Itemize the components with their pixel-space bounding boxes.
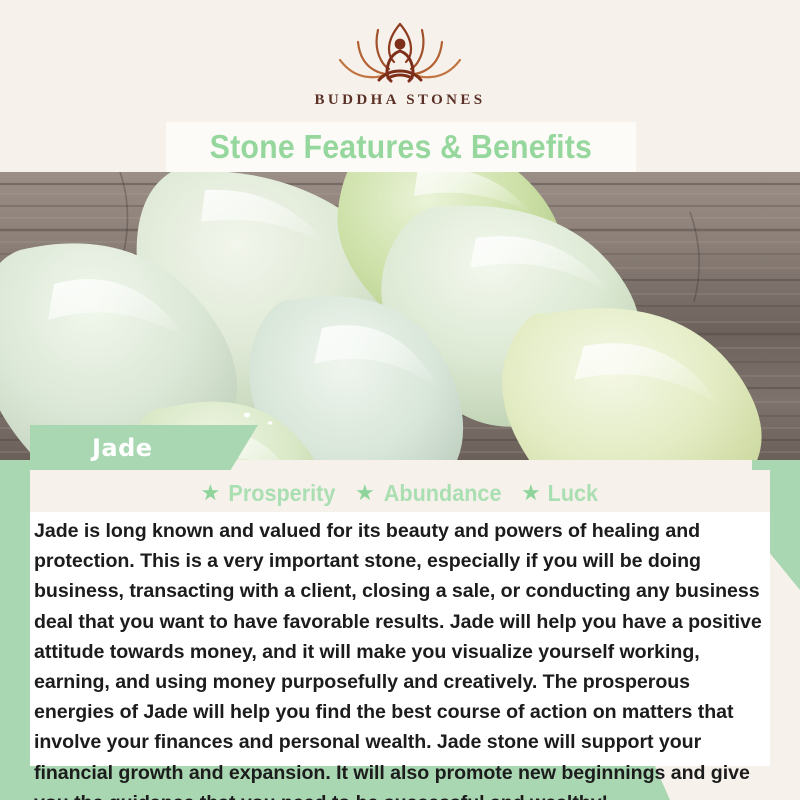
- content-panel: ★ Prosperity ★ Abundance ★ Luck Jade is …: [30, 470, 770, 766]
- poster-canvas: BUDDHA STONES Stone Features & Benefits …: [0, 0, 800, 800]
- star-icon: ★: [521, 482, 541, 504]
- title-banner: Stone Features & Benefits: [166, 122, 636, 172]
- stone-photo: [0, 172, 800, 460]
- benefit-item: ★ Luck: [521, 480, 599, 507]
- lotus-meditation-icon: [334, 18, 466, 90]
- description-text: Jade is long known and valued for its be…: [34, 516, 764, 800]
- benefits-row: ★ Prosperity ★ Abundance ★ Luck: [30, 476, 770, 510]
- benefit-label: Luck: [547, 480, 597, 507]
- brand-name: BUDDHA STONES: [0, 92, 800, 109]
- stone-name-label: Jade: [92, 434, 153, 462]
- benefit-label: Abundance: [384, 480, 502, 507]
- logo-block: BUDDHA STONES: [0, 18, 800, 109]
- benefit-item: ★ Abundance: [355, 480, 505, 507]
- page-title: Stone Features & Benefits: [210, 128, 593, 166]
- description-box: Jade is long known and valued for its be…: [30, 512, 770, 766]
- benefit-item: ★ Prosperity: [201, 480, 340, 507]
- star-icon: ★: [355, 482, 375, 504]
- benefit-label: Prosperity: [229, 480, 336, 507]
- stone-name-banner: Jade: [30, 425, 258, 470]
- star-icon: ★: [201, 482, 221, 504]
